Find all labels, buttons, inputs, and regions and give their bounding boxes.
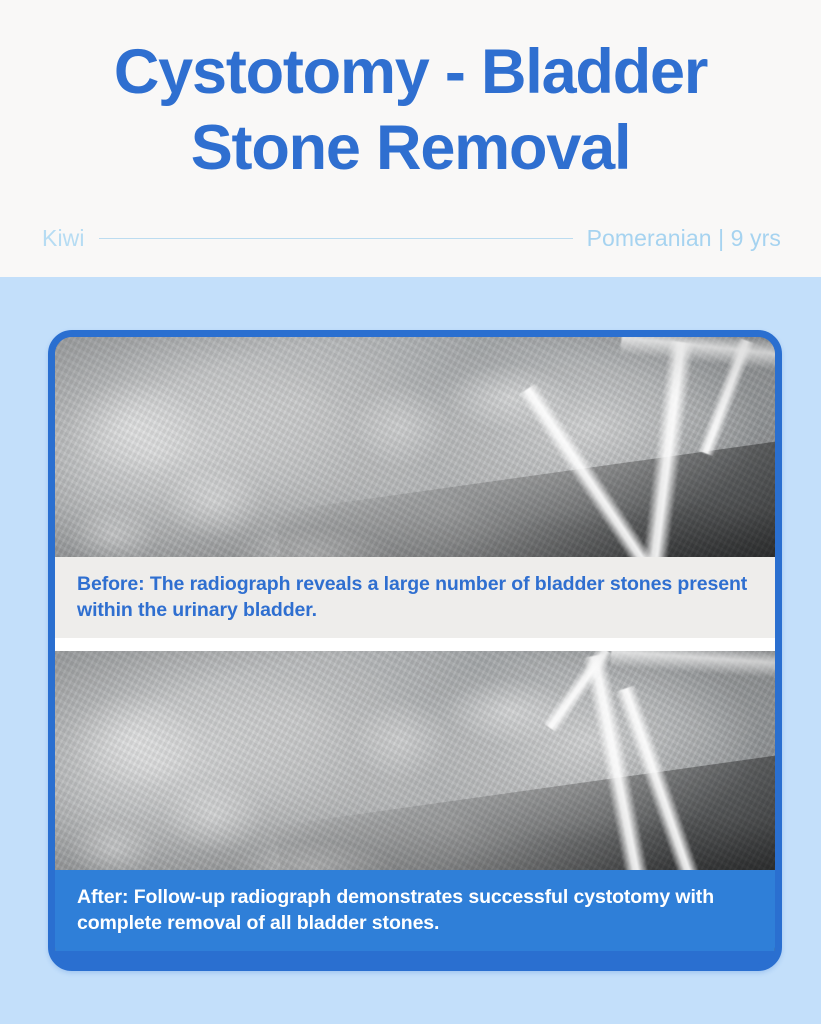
after-caption: After: Follow-up radiograph demonstrates… bbox=[55, 870, 775, 951]
after-panel: After: Follow-up radiograph demonstrates… bbox=[55, 651, 775, 951]
before-caption: Before: The radiograph reveals a large n… bbox=[55, 557, 775, 638]
page-title-line-1: Cystotomy - Bladder bbox=[0, 34, 821, 110]
before-caption-label: Before: bbox=[77, 573, 145, 595]
before-caption-text: The radiograph reveals a large number of… bbox=[77, 573, 747, 621]
infographic-page: Cystotomy - Bladder Stone Removal Kiwi P… bbox=[0, 0, 821, 1024]
page-title: Cystotomy - Bladder Stone Removal bbox=[0, 34, 821, 186]
patient-name: Kiwi bbox=[42, 225, 85, 252]
header: Cystotomy - Bladder Stone Removal Kiwi P… bbox=[0, 0, 821, 277]
after-caption-label: After: bbox=[77, 886, 128, 908]
before-after-card: Before: The radiograph reveals a large n… bbox=[48, 330, 782, 971]
after-caption-text: Follow-up radiograph demonstrates succes… bbox=[77, 886, 714, 934]
patient-breed-age: Pomeranian | 9 yrs bbox=[587, 225, 781, 252]
before-panel: Before: The radiograph reveals a large n… bbox=[55, 337, 775, 638]
panel-divider bbox=[55, 638, 775, 651]
patient-meta-row: Kiwi Pomeranian | 9 yrs bbox=[42, 219, 781, 257]
meta-divider-rule bbox=[99, 238, 573, 239]
page-title-line-2: Stone Removal bbox=[0, 110, 821, 186]
